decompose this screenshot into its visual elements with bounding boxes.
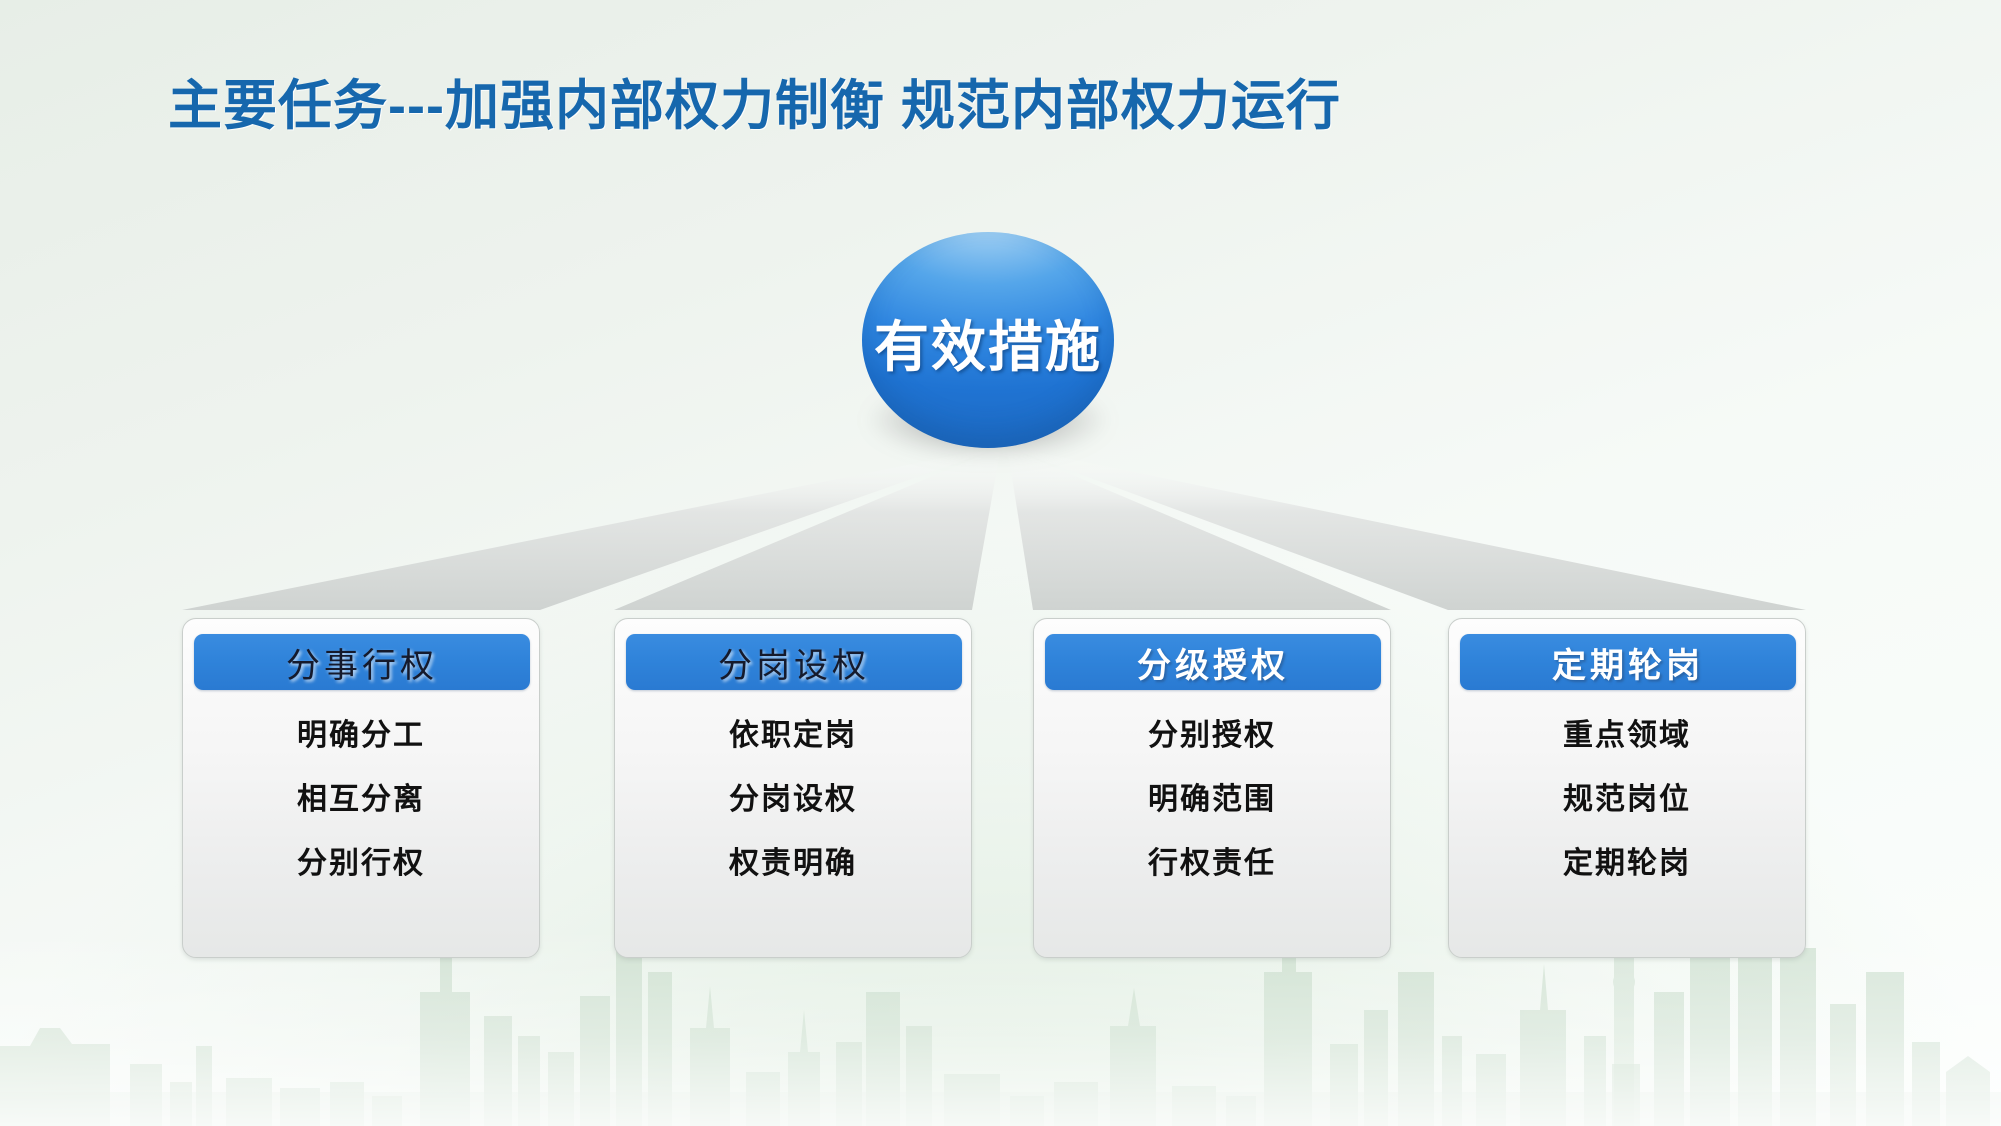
hub-sphere[interactable]: 有效措施: [862, 232, 1114, 448]
card-body-1: 明确分工 相互分离 分别行权: [183, 705, 539, 879]
card-title-4: 定期轮岗: [1552, 638, 1704, 687]
card-header-band-4: 定期轮岗: [1460, 634, 1796, 690]
measure-card-1[interactable]: 分事行权 明确分工 相互分离 分别行权: [182, 618, 540, 958]
card-item: 相互分离: [183, 785, 539, 815]
card-item: 分岗设权: [615, 785, 971, 815]
measure-card-3[interactable]: 分级授权 分别授权 明确范围 行权责任: [1033, 618, 1391, 958]
card-item: 重点领域: [1449, 721, 1805, 751]
card-item: 定期轮岗: [1449, 849, 1805, 879]
card-header-band-1: 分事行权: [194, 634, 530, 690]
measure-card-4[interactable]: 定期轮岗 重点领域 规范岗位 定期轮岗: [1448, 618, 1806, 958]
card-title-3: 分级授权: [1137, 638, 1289, 687]
card-item: 明确范围: [1034, 785, 1390, 815]
page-title: 主要任务---加强内部权力制衡 规范内部权力运行: [168, 61, 1341, 140]
card-item: 权责明确: [615, 849, 971, 879]
measure-card-2[interactable]: 分岗设权 依职定岗 分岗设权 权责明确: [614, 618, 972, 958]
card-header-band-2: 分岗设权: [626, 634, 962, 690]
card-body-4: 重点领域 规范岗位 定期轮岗: [1449, 705, 1805, 879]
slide-canvas: 主要任务---加强内部权力制衡 规范内部权力运行 有效措施: [0, 0, 2001, 1126]
card-item: 分别授权: [1034, 721, 1390, 751]
card-item: 分别行权: [183, 849, 539, 879]
card-title-2: 分岗设权: [718, 638, 870, 687]
card-item: 依职定岗: [615, 721, 971, 751]
card-title-1: 分事行权: [286, 638, 438, 687]
card-item: 明确分工: [183, 721, 539, 751]
hub-label: 有效措施: [874, 302, 1102, 382]
card-body-3: 分别授权 明确范围 行权责任: [1034, 705, 1390, 879]
card-item: 行权责任: [1034, 849, 1390, 879]
central-hub[interactable]: 有效措施: [862, 232, 1114, 454]
card-body-2: 依职定岗 分岗设权 权责明确: [615, 705, 971, 879]
card-header-band-3: 分级授权: [1045, 634, 1381, 690]
card-item: 规范岗位: [1449, 785, 1805, 815]
